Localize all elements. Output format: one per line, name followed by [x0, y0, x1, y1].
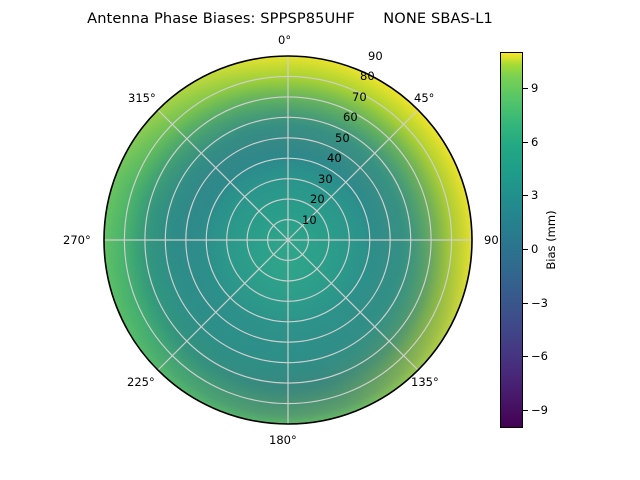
colorbar-label-m9: −9: [531, 403, 548, 417]
azimuth-tick-270: 270°: [63, 233, 91, 247]
colorbar-tick-m6: [523, 356, 528, 357]
elevation-tick-60: 60: [343, 110, 358, 124]
azimuth-tick-135: 135°: [411, 375, 439, 389]
colorbar-tick-m3: [523, 303, 528, 304]
colorbar-axis-label: Bias (mm): [544, 210, 558, 269]
colorbar-tick-3: [523, 195, 528, 196]
polar-axes[interactable]: 0° 45° 90 135° 180° 225° 270° 315° 10 20…: [103, 55, 473, 425]
azimuth-tick-315: 315°: [128, 91, 156, 105]
azimuth-tick-0: 0°: [278, 33, 291, 47]
colorbar-label-0: 0: [531, 242, 538, 256]
polar-plot-svg: [103, 55, 473, 425]
colorbar-label-6: 6: [531, 135, 538, 149]
colorbar-tick-9: [523, 88, 528, 89]
colorbar-tick-m9: [523, 410, 528, 411]
colorbar-label-9: 9: [531, 81, 538, 95]
polar-grid: [104, 56, 472, 424]
elevation-tick-70: 70: [352, 90, 367, 104]
elevation-tick-80: 80: [360, 69, 375, 83]
elevation-tick-90: 90: [368, 49, 383, 63]
elevation-tick-40: 40: [327, 151, 342, 165]
azimuth-tick-180: 180°: [269, 433, 297, 447]
elevation-tick-50: 50: [335, 131, 350, 145]
elevation-tick-10: 10: [302, 213, 317, 227]
page-title: Antenna Phase Biases: SPPSP85UHF NONE SB…: [0, 10, 580, 27]
colorbar-gradient: [500, 52, 523, 428]
azimuth-tick-225: 225°: [127, 375, 155, 389]
colorbar-label-m6: −6: [531, 349, 548, 363]
elevation-tick-20: 20: [310, 192, 325, 206]
azimuth-tick-45: 45°: [414, 91, 434, 105]
colorbar-tick-0: [523, 249, 528, 250]
elevation-tick-30: 30: [318, 172, 333, 186]
colorbar-label-3: 3: [531, 188, 538, 202]
azimuth-tick-90: 90: [484, 233, 499, 247]
colorbar-label-m3: −3: [531, 296, 548, 310]
colorbar[interactable]: 9 6 3 0 −3 −6 −9: [500, 52, 523, 428]
colorbar-tick-6: [523, 142, 528, 143]
figure-canvas: Antenna Phase Biases: SPPSP85UHF NONE SB…: [0, 0, 640, 480]
